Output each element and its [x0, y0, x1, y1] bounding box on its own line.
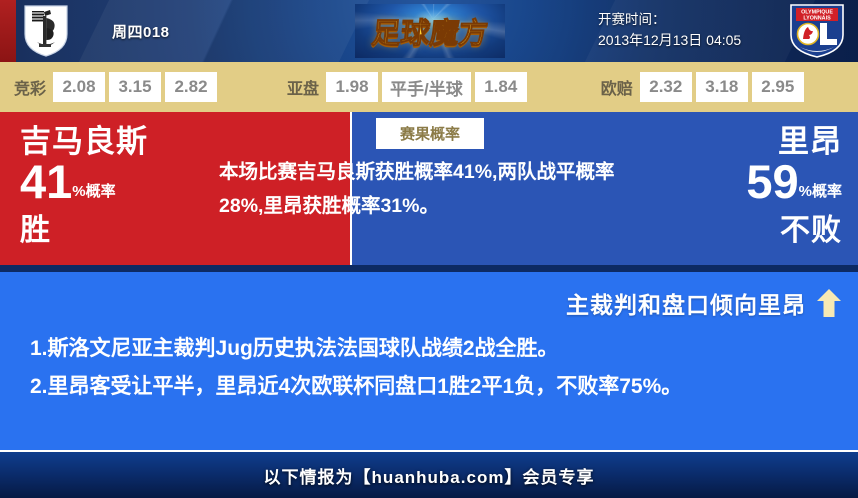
analysis-notes: 1.斯洛文尼亚主裁判Jug历史执法法国球队战绩2战全胜。 2.里昂客受让平半，里…: [30, 330, 828, 406]
home-percent-row: 41%概率: [20, 160, 148, 214]
odds-jingcai-draw[interactable]: 3.15: [109, 72, 161, 102]
home-percent-value: 41: [20, 155, 72, 208]
odds-group-oupei: 欧赔 2.32 3.18 2.95: [601, 72, 808, 102]
arrow-up-icon: [816, 288, 842, 318]
away-percent-suffix: %概率: [799, 183, 842, 200]
odds-bar: 竞彩 2.08 3.15 2.82 亚盘 1.98 平手/半球 1.84 欧赔 …: [0, 62, 858, 112]
analysis-note-2: 2.里昂客受让平半，里昂近4次欧联杯同盘口1胜2平1负，不败率75%。: [30, 368, 828, 406]
brand-title: 足球魔方: [370, 10, 490, 52]
odds-oupei-home[interactable]: 2.32: [640, 72, 692, 102]
brand-logo: 足球魔方: [355, 4, 505, 58]
kickoff-time: 开赛时间： 2013年12月13日 04:05: [598, 10, 741, 50]
away-result-label: 不败: [746, 214, 842, 248]
analysis-section: 主裁判和盘口倾向里昂 1.斯洛文尼亚主裁判Jug历史执法法国球队战绩2战全胜。 …: [0, 272, 858, 450]
match-number: 周四018: [112, 21, 170, 42]
crest-bottom-text: LYONNAIS: [803, 15, 831, 21]
odds-oupei-away[interactable]: 2.95: [752, 72, 804, 102]
odds-oupei-draw[interactable]: 3.18: [696, 72, 748, 102]
analysis-headline: 主裁判和盘口倾向里昂: [566, 286, 806, 320]
away-percent-value: 59: [746, 155, 798, 208]
olympique-lyonnais-crest-icon: OLYMPIQUE LYONNAIS: [788, 3, 846, 59]
match-header: 周四018 足球魔方 开赛时间： 2013年12月13日 04:05 OLYMP…: [0, 0, 858, 62]
away-percent-row: 59%概率: [746, 160, 842, 214]
probability-summary-text: 本场比赛吉马良斯获胜概率41%,两队战平概率28%,里昂获胜概率31%。: [219, 155, 619, 223]
kickoff-label: 开赛时间：: [598, 10, 741, 30]
odds-label-oupei: 欧赔: [601, 75, 633, 99]
odds-yapan-handicap[interactable]: 平手/半球: [382, 72, 471, 102]
footer-text: 以下情报为【huanhuba.com】会员专享: [264, 463, 595, 488]
odds-group-yapan: 亚盘 1.98 平手/半球 1.84: [287, 72, 531, 102]
odds-yapan-away[interactable]: 1.84: [475, 72, 527, 102]
home-percent-suffix: %概率: [72, 183, 115, 200]
header-diagonal-left: [60, 0, 383, 62]
odds-jingcai-away[interactable]: 2.82: [165, 72, 217, 102]
probability-tab-label: 赛果概率: [376, 118, 484, 149]
odds-group-jingcai: 竞彩 2.08 3.15 2.82: [14, 72, 221, 102]
analysis-headline-row: 主裁判和盘口倾向里昂: [566, 286, 842, 320]
odds-yapan-home[interactable]: 1.98: [326, 72, 378, 102]
odds-label-jingcai: 竞彩: [14, 75, 46, 99]
analysis-note-1: 1.斯洛文尼亚主裁判Jug历史执法法国球队战绩2战全胜。: [30, 330, 828, 368]
away-team-block: 里昂 59%概率 不败: [746, 124, 842, 248]
home-team-block: 吉马良斯 41%概率 胜: [20, 124, 148, 248]
kickoff-value: 2013年12月13日 04:05: [598, 30, 741, 50]
odds-jingcai-home[interactable]: 2.08: [53, 72, 105, 102]
vitoria-guimaraes-crest-icon: [22, 4, 70, 58]
footer-bar: 以下情报为【huanhuba.com】会员专享: [0, 450, 858, 498]
home-result-label: 胜: [20, 214, 148, 248]
prediction-infographic: 周四018 足球魔方 开赛时间： 2013年12月13日 04:05 OLYMP…: [0, 0, 858, 498]
odds-label-yapan: 亚盘: [287, 75, 319, 99]
